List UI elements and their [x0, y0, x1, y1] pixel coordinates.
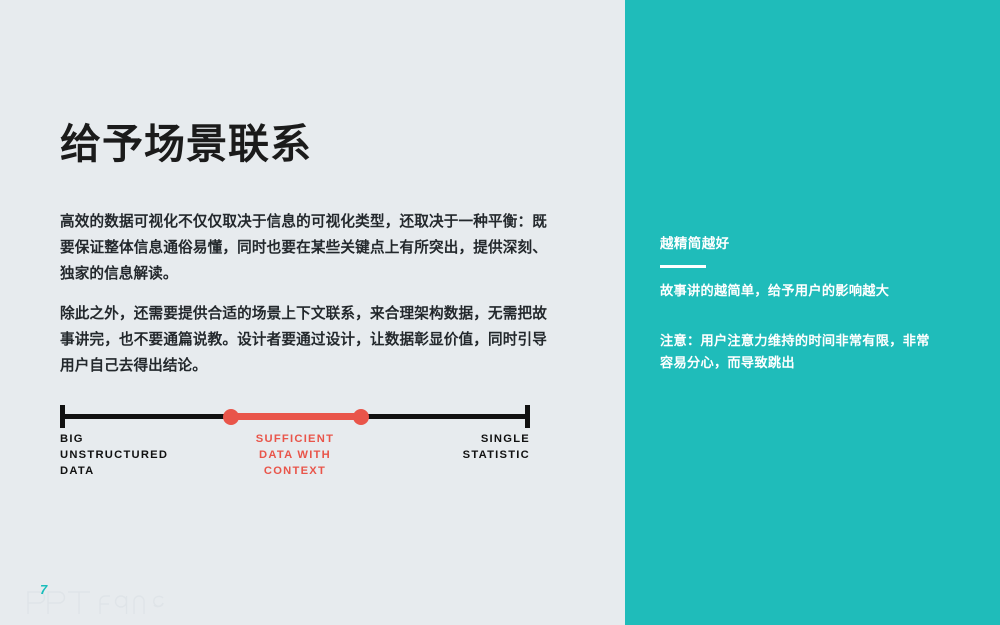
callout-line-1: 故事讲的越简单，给予用户的影响越大	[660, 280, 940, 302]
callout-divider-rule	[660, 265, 706, 268]
spectrum-label-end: SINGLE STATISTIC	[360, 432, 530, 464]
spectrum-marker-dot-end	[353, 409, 369, 425]
spectrum-graphic	[60, 405, 530, 431]
spectrum-end-cap-left	[60, 405, 65, 428]
spectrum-labels: BIG UNSTRUCTURED DATA SUFFICIENT DATA WI…	[60, 432, 530, 492]
page-title: 给予场景联系	[60, 122, 312, 168]
spectrum-highlight-range	[231, 413, 361, 420]
callout-line-2: 注意：用户注意力维持的时间非常有限，非常容易分心，而导致跳出	[660, 330, 940, 374]
body-paragraph-2: 除此之外，还需要提供合适的场景上下文联系，来合理架构数据，无需把故事讲完，也不要…	[60, 302, 547, 380]
right-accent-panel	[625, 0, 1000, 625]
callout-heading: 越精简越好	[660, 232, 730, 252]
slide-canvas: 给予场景联系 高效的数据可视化不仅仅取决于信息的可视化类型，还取决于一种平衡：既…	[0, 0, 1000, 625]
spectrum-marker-dot-start	[223, 409, 239, 425]
body-paragraph-1: 高效的数据可视化不仅仅取决于信息的可视化类型，还取决于一种平衡：既要保证整体信息…	[60, 210, 547, 288]
page-number: 7	[40, 582, 47, 597]
spectrum-end-cap-right	[525, 405, 530, 428]
